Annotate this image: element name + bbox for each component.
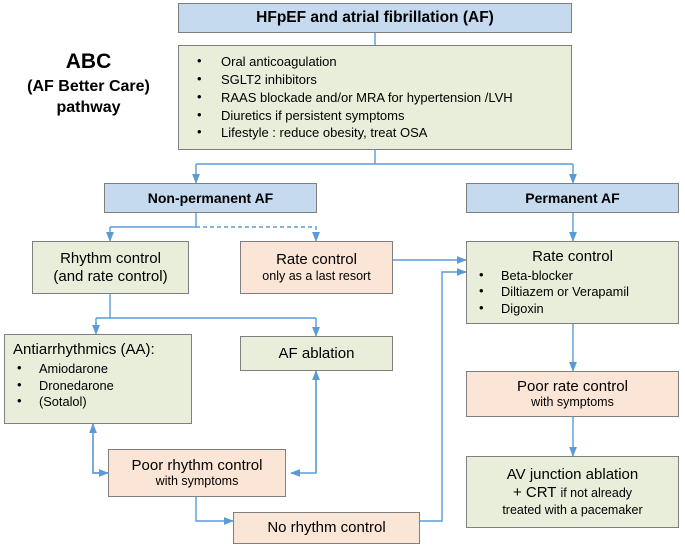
rate-control-permanent-list: Beta-blocker Diltiazem or Verapamil Digo… <box>467 266 678 317</box>
av-junction-crt-note: if not already <box>556 486 632 500</box>
node-rate-control-permanent-title: Rate control <box>467 248 678 266</box>
rate-control-item: Diltiazem or Verapamil <box>467 284 678 299</box>
abc-measures-list: Oral anticoagulation SGLT2 inhibitors RA… <box>179 52 571 144</box>
conn-norhythm-to-ratecontrol <box>420 272 466 521</box>
rate-control-item: Digoxin <box>467 301 678 316</box>
node-poor-rate-control-line1: Poor rate control <box>517 378 628 396</box>
node-av-junction-ablation-line3: treated with a pacemaker <box>502 503 642 518</box>
node-poor-rhythm-control-line1: Poor rhythm control <box>132 457 263 475</box>
conn-poorrhythm-to-norhythm <box>196 497 233 521</box>
abc-measure-item: RAAS blockade and/or MRA for hypertensio… <box>179 90 571 105</box>
flowchart-canvas: ABC (AF Better Care) pathway HFpEF and a… <box>0 0 685 547</box>
node-non-permanent-af-label: Non-permanent AF <box>148 190 273 207</box>
node-av-junction-ablation-line2: + CRTif not already <box>513 484 632 503</box>
abc-measure-item: Oral anticoagulation <box>179 54 571 69</box>
abc-measure-item: Lifestyle : reduce obesity, treat OSA <box>179 125 571 140</box>
node-rhythm-control-line2: (and rate control) <box>53 268 167 286</box>
abc-measure-item: SGLT2 inhibitors <box>179 72 571 87</box>
node-af-ablation-label: AF ablation <box>279 345 355 363</box>
node-abc-measures[interactable]: Oral anticoagulation SGLT2 inhibitors RA… <box>178 45 572 150</box>
node-poor-rhythm-control-line2: with symptoms <box>156 474 239 489</box>
conn-ablation-to-poorrhythm <box>291 371 316 473</box>
abc-caption-line1: ABC <box>6 48 171 76</box>
node-rate-control-last-resort-line1: Rate control <box>276 251 357 269</box>
node-antiarrhythmics-title: Antiarrhythmics (AA): <box>5 341 191 359</box>
node-rate-control-last-resort[interactable]: Rate control only as a last resort <box>240 241 393 294</box>
abc-measure-item: Diuretics if persistent symptoms <box>179 108 571 123</box>
node-av-junction-ablation[interactable]: AV junction ablation + CRTif not already… <box>466 456 679 528</box>
node-permanent-af[interactable]: Permanent AF <box>466 183 679 213</box>
node-af-ablation[interactable]: AF ablation <box>240 336 393 371</box>
node-no-rhythm-control[interactable]: No rhythm control <box>233 512 420 544</box>
conn-aa-to-poorrhythm <box>93 424 108 473</box>
node-non-permanent-af[interactable]: Non-permanent AF <box>104 183 317 213</box>
antiarrhythmic-item: (Sotalol) <box>5 394 191 409</box>
node-rate-control-last-resort-line2: only as a last resort <box>262 269 370 284</box>
node-rate-control-permanent[interactable]: Rate control Beta-blocker Diltiazem or V… <box>466 241 679 324</box>
node-poor-rate-control[interactable]: Poor rate control with symptoms <box>466 371 679 417</box>
node-rhythm-control-line1: Rhythm control <box>60 250 161 268</box>
abc-caption-line3: pathway <box>6 97 171 118</box>
node-poor-rhythm-control[interactable]: Poor rhythm control with symptoms <box>108 449 286 497</box>
abc-caption-line2: (AF Better Care) <box>6 76 171 97</box>
node-hfpef-af-header[interactable]: HFpEF and atrial fibrillation (AF) <box>178 3 572 33</box>
node-poor-rate-control-line2: with symptoms <box>531 395 614 410</box>
node-antiarrhythmics[interactable]: Antiarrhythmics (AA): Amiodarone Droneda… <box>4 334 192 424</box>
conn-nonperm-to-rate-lastresort <box>196 227 316 241</box>
antiarrhythmic-item: Dronedarone <box>5 378 191 393</box>
antiarrhythmics-list: Amiodarone Dronedarone (Sotalol) <box>5 360 191 411</box>
node-av-junction-ablation-line1: AV junction ablation <box>507 466 638 484</box>
antiarrhythmic-item: Amiodarone <box>5 361 191 376</box>
rate-control-item: Beta-blocker <box>467 268 678 283</box>
node-permanent-af-label: Permanent AF <box>525 190 619 207</box>
node-hfpef-af-header-label: HFpEF and atrial fibrillation (AF) <box>256 9 494 27</box>
conn-poorrhythm-to-aa <box>93 424 108 473</box>
node-rhythm-control[interactable]: Rhythm control (and rate control) <box>32 241 189 294</box>
av-junction-crt-label: + CRT <box>513 484 556 501</box>
abc-pathway-caption: ABC (AF Better Care) pathway <box>6 48 171 118</box>
node-no-rhythm-control-label: No rhythm control <box>267 519 385 537</box>
